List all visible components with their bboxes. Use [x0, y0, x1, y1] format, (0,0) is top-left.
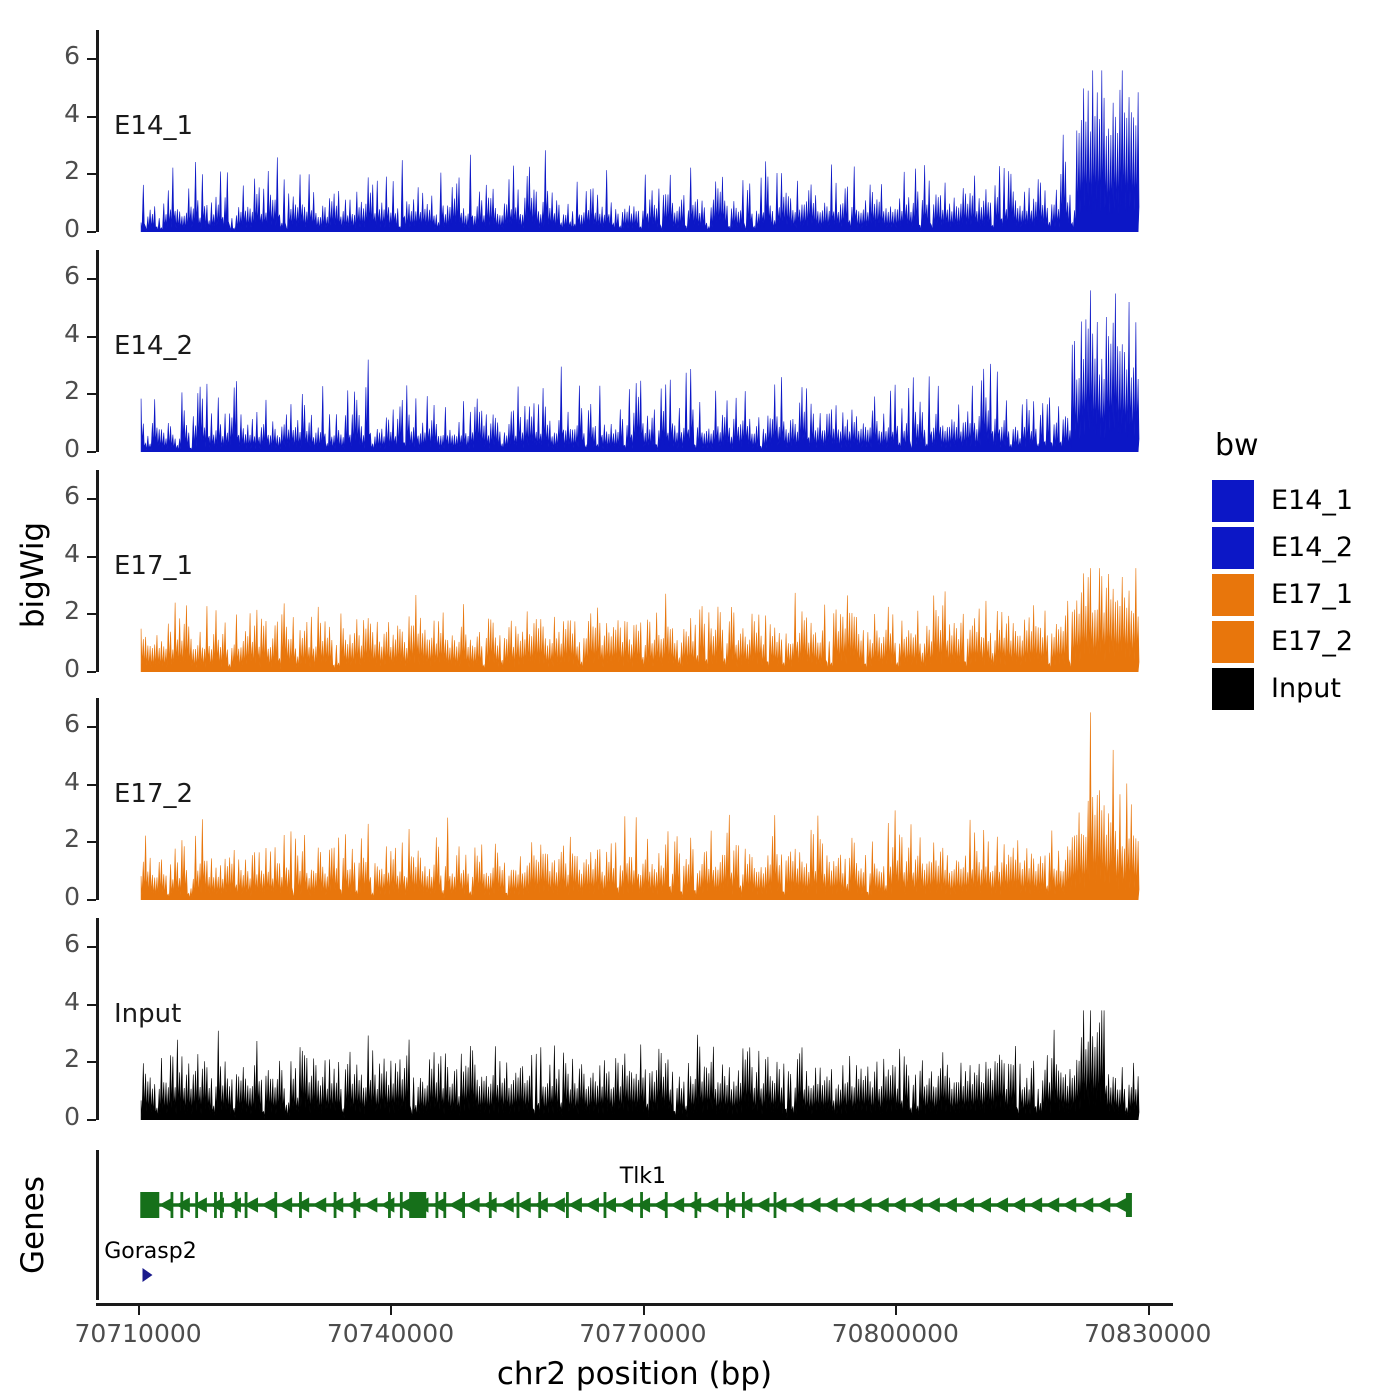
gene-label-tlk1: Tlk1: [620, 1164, 666, 1189]
coverage-area-svg: [99, 30, 1176, 232]
y-tick-label: 2: [34, 376, 80, 405]
gene-label-gorasp2: Gorasp2: [104, 1239, 196, 1264]
y-tick: [87, 613, 96, 615]
legend-swatch: [1212, 574, 1254, 616]
y-tick-label: 0: [34, 214, 80, 243]
coverage-area-svg: [99, 470, 1176, 672]
legend-swatch: [1212, 480, 1254, 522]
x-tick: [138, 1306, 140, 1315]
x-tick-label: 70800000: [832, 1319, 959, 1348]
y-tick-label: 6: [34, 261, 80, 290]
x-tick: [643, 1306, 645, 1315]
y-tick: [87, 451, 96, 453]
x-axis-label: chr2 position (bp): [96, 1356, 1173, 1392]
coverage-area-svg: [99, 250, 1176, 452]
legend-title: bw: [1215, 428, 1392, 463]
y-tick-label: 6: [34, 481, 80, 510]
genes-axis-label-text: Genes: [15, 1176, 51, 1274]
y-tick-label: 4: [34, 987, 80, 1016]
y-tick-label: 4: [34, 99, 80, 128]
track-panel-e14_1[interactable]: 0246E14_1: [96, 30, 1176, 232]
legend-label: E17_2: [1271, 626, 1353, 657]
genes-track-panel[interactable]: Tlk1 Gorasp2: [96, 1150, 1173, 1300]
x-tick-label: 70710000: [74, 1319, 201, 1348]
legend-label: E14_1: [1271, 485, 1353, 516]
legend: bw E14_1E14_2E17_1E17_2Input: [1212, 428, 1392, 712]
y-tick: [87, 946, 96, 948]
coverage-plot-e17_1[interactable]: [99, 470, 1176, 672]
y-tick-label: 6: [34, 929, 80, 958]
track-panel-e14_2[interactable]: 0246E14_2: [96, 250, 1176, 452]
y-tick: [87, 1119, 96, 1121]
y-tick: [87, 671, 96, 673]
x-tick: [1148, 1306, 1150, 1315]
y-tick-label: 2: [34, 596, 80, 625]
y-tick: [87, 556, 96, 558]
genes-axis-line: [96, 1150, 99, 1300]
y-tick: [87, 58, 96, 60]
x-tick: [895, 1306, 897, 1315]
legend-item-e17_1[interactable]: E17_1: [1212, 571, 1392, 618]
y-tick: [87, 784, 96, 786]
coverage-plot-input[interactable]: [99, 918, 1176, 1120]
coverage-plot-e17_2[interactable]: [99, 698, 1176, 900]
legend-item-e17_2[interactable]: E17_2: [1212, 618, 1392, 665]
y-tick: [87, 498, 96, 500]
coverage-area-svg: [99, 698, 1176, 900]
y-tick: [87, 1004, 96, 1006]
legend-items: E14_1E14_2E17_1E17_2Input: [1212, 477, 1392, 712]
y-tick-label: 4: [34, 767, 80, 796]
x-tick-label: 70740000: [327, 1319, 454, 1348]
y-tick-label: 0: [34, 434, 80, 463]
track-panel-e17_1[interactable]: 0246E17_1: [96, 470, 1176, 672]
y-tick-label: 0: [34, 654, 80, 683]
y-tick-label: 0: [34, 882, 80, 911]
legend-swatch: [1212, 527, 1254, 569]
legend-item-e14_2[interactable]: E14_2: [1212, 524, 1392, 571]
y-tick-label: 4: [34, 319, 80, 348]
y-tick-label: 6: [34, 41, 80, 70]
x-tick-label: 70770000: [579, 1319, 706, 1348]
legend-swatch: [1212, 621, 1254, 663]
legend-item-input[interactable]: Input: [1212, 665, 1392, 712]
y-tick: [87, 1061, 96, 1063]
x-axis-line: [96, 1303, 1173, 1306]
y-tick: [87, 726, 96, 728]
y-tick: [87, 899, 96, 901]
y-tick-label: 2: [34, 824, 80, 853]
coverage-area-svg: [99, 918, 1176, 1120]
y-tick-label: 2: [34, 156, 80, 185]
y-tick: [87, 173, 96, 175]
coverage-plot-e14_1[interactable]: [99, 30, 1176, 232]
legend-label: E17_1: [1271, 579, 1353, 610]
y-tick: [87, 336, 96, 338]
x-tick: [390, 1306, 392, 1315]
coverage-plot-e14_2[interactable]: [99, 250, 1176, 452]
y-tick-label: 0: [34, 1102, 80, 1131]
y-tick: [87, 841, 96, 843]
legend-label: Input: [1271, 673, 1341, 704]
y-tick-label: 4: [34, 539, 80, 568]
x-tick-label: 70830000: [1084, 1319, 1211, 1348]
y-tick: [87, 393, 96, 395]
y-tick: [87, 231, 96, 233]
y-tick-label: 6: [34, 709, 80, 738]
y-axis-label-genes: Genes: [10, 1150, 56, 1300]
track-panel-e17_2[interactable]: 0246E17_2: [96, 698, 1176, 900]
legend-swatch: [1212, 668, 1254, 710]
y-tick: [87, 116, 96, 118]
legend-label: E14_2: [1271, 532, 1353, 563]
track-panel-input[interactable]: 0246Input: [96, 918, 1176, 1120]
legend-item-e14_1[interactable]: E14_1: [1212, 477, 1392, 524]
y-tick-label: 2: [34, 1044, 80, 1073]
y-tick: [87, 278, 96, 280]
